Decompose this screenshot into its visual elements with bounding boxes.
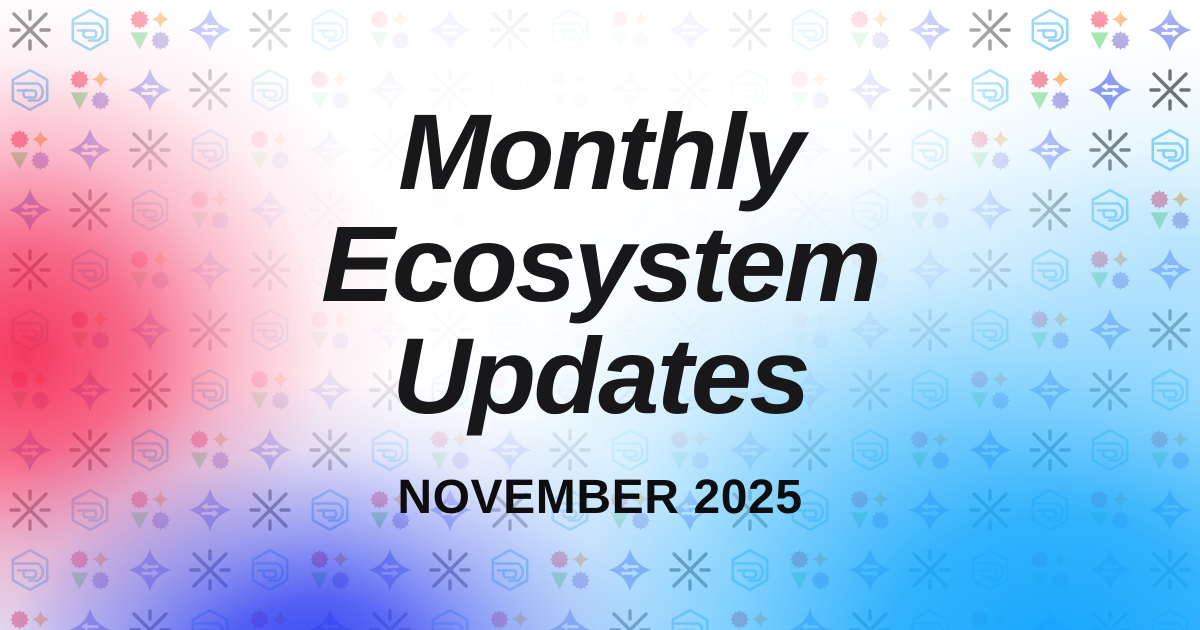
diamond-swap-icon (1087, 547, 1133, 593)
shape-cluster-icon (367, 7, 413, 53)
asterisk-icon (667, 547, 713, 593)
shape-cluster-icon (1087, 7, 1133, 53)
shape-cluster-icon (247, 607, 293, 630)
diamond-swap-icon (1147, 7, 1193, 53)
hexagon-swirl-icon (427, 607, 473, 630)
diamond-swap-icon (1027, 607, 1073, 630)
page-title-line-3: Updates (0, 320, 1200, 432)
hexagon-swirl-icon (667, 607, 713, 630)
hexagon-swirl-icon (7, 547, 53, 593)
hexagon-swirl-icon (787, 7, 833, 53)
diamond-swap-icon (67, 607, 113, 630)
asterisk-icon (487, 7, 533, 53)
asterisk-icon (727, 7, 773, 53)
asterisk-icon (427, 547, 473, 593)
asterisk-icon (127, 607, 173, 630)
diamond-swap-icon (127, 547, 173, 593)
page-title-line-1: Monthly (0, 96, 1200, 208)
shape-cluster-icon (67, 547, 113, 593)
diamond-swap-icon (607, 547, 653, 593)
shape-cluster-icon (967, 607, 1013, 630)
asterisk-icon (1087, 607, 1133, 630)
asterisk-icon (187, 547, 233, 593)
asterisk-icon (1147, 547, 1193, 593)
hexagon-swirl-icon (247, 547, 293, 593)
asterisk-icon (7, 7, 53, 53)
shape-cluster-icon (847, 7, 893, 53)
diamond-swap-icon (307, 607, 353, 630)
hexagon-swirl-icon (487, 547, 533, 593)
shape-cluster-icon (487, 607, 533, 630)
shape-cluster-icon (307, 547, 353, 593)
asterisk-icon (607, 607, 653, 630)
asterisk-icon (907, 547, 953, 593)
shape-cluster-icon (547, 547, 593, 593)
hexagon-swirl-icon (1147, 607, 1193, 630)
diamond-swap-icon (547, 607, 593, 630)
diamond-swap-icon (367, 547, 413, 593)
hexagon-swirl-icon (307, 7, 353, 53)
asterisk-icon (247, 7, 293, 53)
diamond-swap-icon (427, 7, 473, 53)
monthly-ecosystem-updates-banner: Monthly Ecosystem Updates NOVEMBER 2025 (0, 0, 1200, 630)
shape-cluster-icon (1027, 547, 1073, 593)
diamond-swap-icon (787, 607, 833, 630)
hexagon-swirl-icon (967, 547, 1013, 593)
hexagon-swirl-icon (907, 607, 953, 630)
hexagon-swirl-icon (547, 7, 593, 53)
hexagon-swirl-icon (67, 7, 113, 53)
diamond-swap-icon (667, 7, 713, 53)
banner-subtitle: NOVEMBER 2025 (0, 472, 1200, 524)
hexagon-swirl-icon (187, 607, 233, 630)
banner-text-block: Monthly Ecosystem Updates NOVEMBER 2025 (0, 96, 1200, 524)
hexagon-swirl-icon (1027, 7, 1073, 53)
diamond-swap-icon (907, 7, 953, 53)
diamond-swap-icon (847, 547, 893, 593)
hexagon-swirl-icon (727, 547, 773, 593)
shape-cluster-icon (607, 7, 653, 53)
page-title-line-2: Ecosystem (0, 208, 1200, 320)
shape-cluster-icon (727, 607, 773, 630)
asterisk-icon (367, 607, 413, 630)
shape-cluster-icon (7, 607, 53, 630)
diamond-swap-icon (187, 7, 233, 53)
shape-cluster-icon (787, 547, 833, 593)
shape-cluster-icon (127, 7, 173, 53)
asterisk-icon (967, 7, 1013, 53)
asterisk-icon (847, 607, 893, 630)
